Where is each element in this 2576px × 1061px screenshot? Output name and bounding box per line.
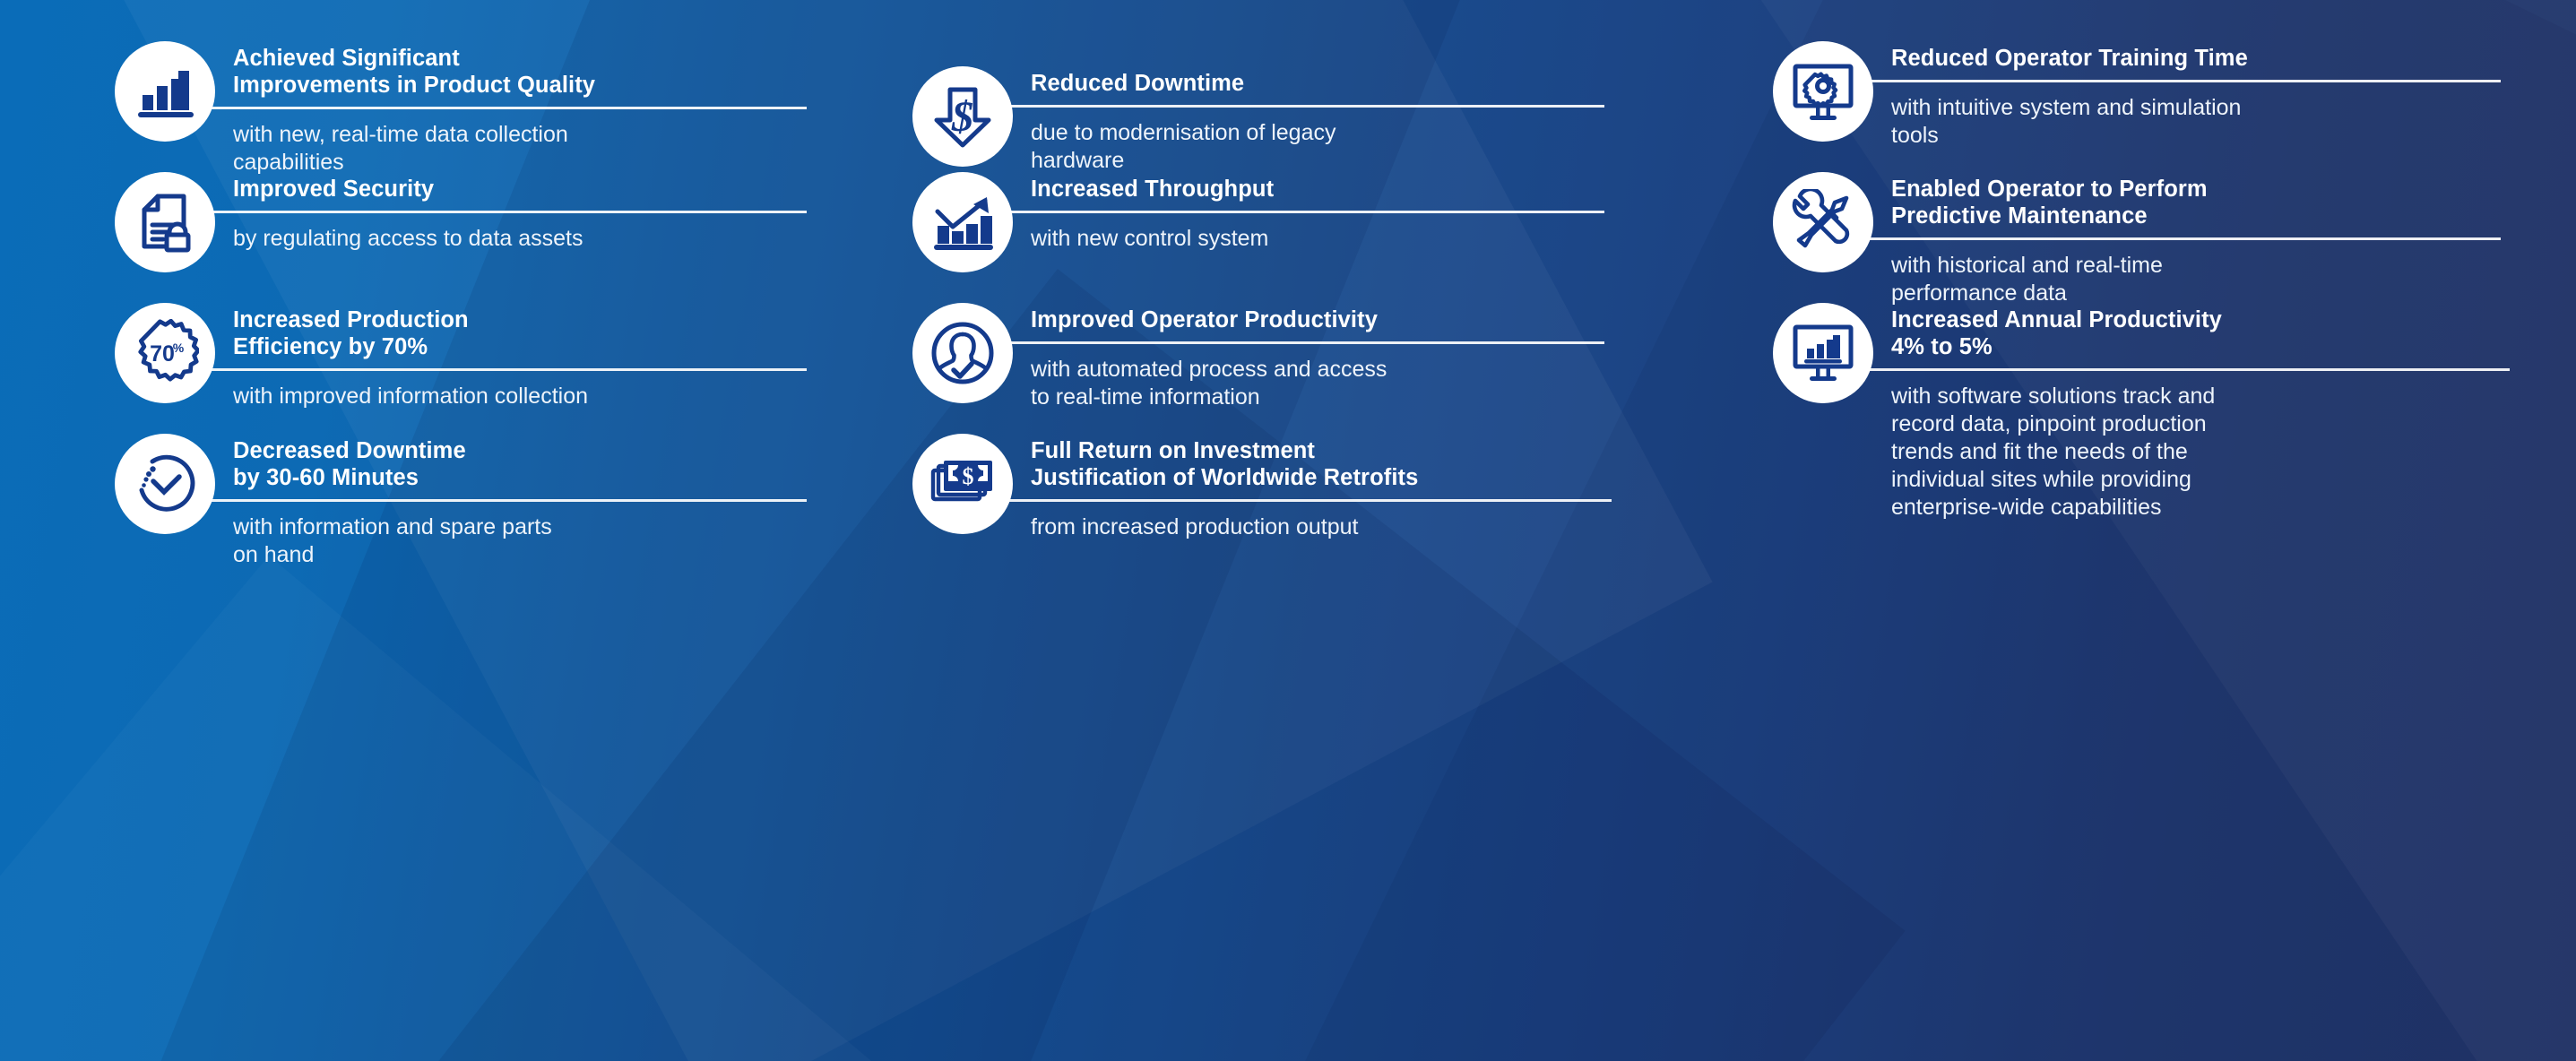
divider-rule [197,211,807,213]
benefit-card-increased-throughput: Increased Throughput with new control sy… [912,172,1612,272]
dollar-down-arrow-icon: $ [912,66,1013,167]
operator-check-icon [912,303,1013,403]
gear-percent-number: 70 [150,341,175,367]
benefit-card-product-quality: Achieved Significant Improvements in Pro… [115,41,814,177]
benefit-headline: Improved Operator Productivity [1031,306,1604,333]
benefit-subtext: with intuitive system and simulation too… [1891,94,2501,150]
benefit-subtext: with new control system [1031,225,1604,253]
benefit-headline: Increased Production Efficiency by 70% [233,306,807,360]
benefit-card-decreased-downtime: Decreased Downtime by 30-60 Minutes with… [115,434,814,569]
benefit-card-annual-productivity: Increased Annual Productivity 4% to 5% w… [1773,303,2517,522]
benefit-subtext: with automated process and access to rea… [1031,356,1604,411]
divider-rule [197,107,807,109]
benefit-subtext: due to modernisation of legacy hardware [1031,119,1604,175]
benefit-card-operator-productivity: Improved Operator Productivity with auto… [912,303,1612,411]
divider-rule [197,499,807,502]
benefit-headline: Reduced Operator Training Time [1891,45,2501,72]
benefit-card-reduced-downtime: $ Reduced Downtime due to modernisation … [912,66,1612,175]
benefit-subtext: with information and spare parts on hand [233,513,807,569]
benefit-card-predictive-maintenance: Enabled Operator to Perform Predictive M… [1773,172,2517,307]
benefit-card-improved-security: Improved Security by regulating access t… [115,172,814,272]
growth-chart-arrow-icon [912,172,1013,272]
benefit-headline: Increased Annual Productivity 4% to 5% [1891,306,2510,360]
benefit-subtext: from increased production output [1031,513,1612,541]
benefit-card-production-efficiency: 70 % Increased Production Efficiency by … [115,303,814,410]
divider-rule [197,368,807,371]
benefit-subtext: with historical and real-time performanc… [1891,252,2501,307]
monitor-chart-icon [1773,303,1873,403]
gear-70-percent-icon: 70 % [115,303,215,403]
divider-rule [995,105,1604,108]
benefit-card-operator-training: Reduced Operator Training Time with intu… [1773,41,2517,150]
benefit-subtext: with improved information collection [233,383,807,410]
clock-check-icon [115,434,215,534]
bar-chart-icon [115,41,215,142]
divider-rule [1855,237,2501,240]
benefit-headline: Achieved Significant Improvements in Pro… [233,45,807,99]
benefit-card-full-roi: $ Full Return on Investment Justificatio… [912,434,1612,541]
divider-rule [995,499,1612,502]
monitor-gear-icon [1773,41,1873,142]
divider-rule [1855,80,2501,82]
infographic-canvas: Achieved Significant Improvements in Pro… [0,0,2576,1061]
divider-rule [995,341,1604,344]
benefit-headline: Full Return on Investment Justification … [1031,437,1612,491]
benefit-headline: Reduced Downtime [1031,70,1604,97]
banknote-dollar-glyph: $ [963,463,974,489]
benefit-headline: Enabled Operator to Perform Predictive M… [1891,176,2501,229]
benefit-headline: Decreased Downtime by 30-60 Minutes [233,437,807,491]
document-lock-icon [115,172,215,272]
benefit-subtext: with new, real-time data collection capa… [233,121,807,177]
benefit-headline: Improved Security [233,176,807,203]
gear-percent-symbol: % [173,341,185,355]
benefit-headline: Increased Throughput [1031,176,1604,203]
dollar-sign-glyph: $ [951,93,973,141]
benefit-subtext: with software solutions track and record… [1891,383,2510,522]
wrench-screwdriver-icon [1773,172,1873,272]
divider-rule [995,211,1604,213]
benefit-subtext: by regulating access to data assets [233,225,807,253]
banknotes-icon: $ [912,434,1013,534]
benefits-grid: Achieved Significant Improvements in Pro… [0,0,2576,1061]
divider-rule [1855,368,2510,371]
